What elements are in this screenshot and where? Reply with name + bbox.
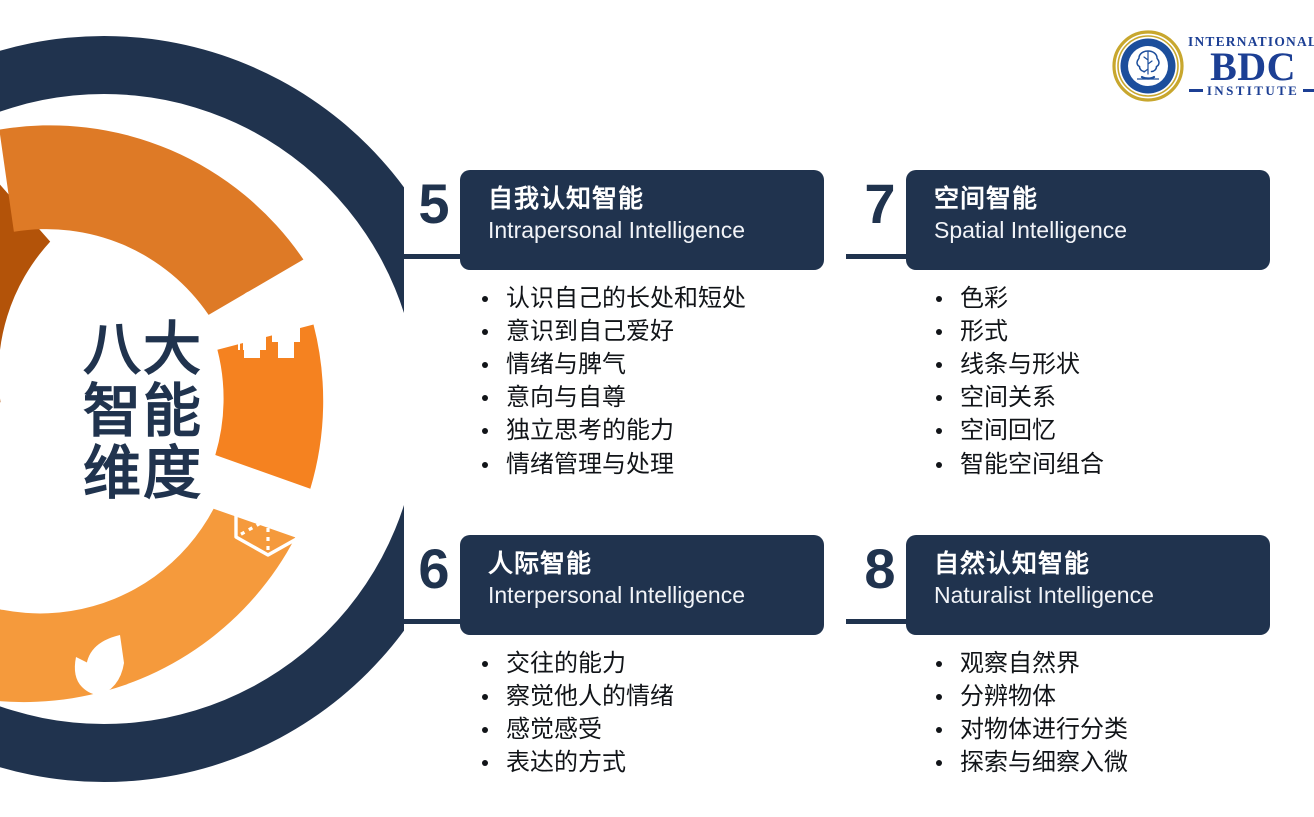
block-8-bullet-list: 观察自然界 分辨物体 对物体进行分类 探索与细察入微 [850,647,1270,779]
wheel-title-line-1: 八大 [48,318,238,380]
list-item: 空间关系 [934,381,1270,414]
list-item: 情绪与脾气 [480,348,824,381]
logo-institute-text: INSTITUTE [1207,84,1299,97]
list-item: 认识自己的长处和短处 [480,282,824,315]
block-5-number: 5 [410,176,458,232]
column-left: 5 自我认知智能 Intrapersonal Intelligence 认识自己… [404,170,824,779]
list-item: 观察自然界 [934,647,1270,680]
wheel-segment-4 [0,509,295,702]
list-item: 意识到自己爱好 [480,315,824,348]
block-7-title-zh: 空间智能 [934,184,1270,214]
block-6-title-en: Interpersonal Intelligence [488,581,824,609]
block-5-rule [400,254,466,259]
list-item: 探索与细察入微 [934,746,1270,779]
block-6-title-zh: 人际智能 [488,549,824,579]
intelligence-block-5[interactable]: 5 自我认知智能 Intrapersonal Intelligence 认识自己… [404,170,824,481]
block-6-header: 6 人际智能 Interpersonal Intelligence [404,535,824,635]
block-7-rule [846,254,912,259]
list-item: 形式 [934,315,1270,348]
block-7-header: 7 空间智能 Spatial Intelligence [850,170,1270,270]
block-5-title-en: Intrapersonal Intelligence [488,216,824,244]
intelligence-block-8[interactable]: 8 自然认知智能 Naturalist Intelligence 观察自然界 分… [850,535,1270,779]
brand-logo: INTERNATIONAL BDC INSTITUTE [1112,26,1288,106]
block-6-number: 6 [410,541,458,597]
list-item: 察觉他人的情绪 [480,680,824,713]
logo-wordmark: INTERNATIONAL BDC INSTITUTE [1188,35,1314,97]
block-8-header: 8 自然认知智能 Naturalist Intelligence [850,535,1270,635]
block-7-number: 7 [856,176,904,232]
block-7-title-en: Spatial Intelligence [934,216,1270,244]
wheel-center-title: 八大 智能 维度 [48,318,238,504]
block-6-bullet-list: 交往的能力 察觉他人的情绪 感觉感受 表达的方式 [404,647,824,779]
list-item: 交往的能力 [480,647,824,680]
block-5-bullet-list: 认识自己的长处和短处 意识到自己爱好 情绪与脾气 意向与自尊 独立思考的能力 情… [404,282,824,481]
block-7-bullet-list: 色彩 形式 线条与形状 空间关系 空间回忆 智能空间组合 [850,282,1270,481]
wheel-title-line-3: 维度 [48,442,238,504]
list-item: 色彩 [934,282,1270,315]
list-item: 独立思考的能力 [480,414,824,447]
brain-tree-seal-icon [1112,30,1184,102]
block-5-title-zh: 自我认知智能 [488,184,824,214]
list-item: 分辨物体 [934,680,1270,713]
intelligence-block-7[interactable]: 7 空间智能 Spatial Intelligence 色彩 形式 线条与形状 … [850,170,1270,481]
list-item: 智能空间组合 [934,448,1270,481]
block-5-header: 5 自我认知智能 Intrapersonal Intelligence [404,170,824,270]
block-6-title-plate: 人际智能 Interpersonal Intelligence [460,535,824,635]
block-8-title-zh: 自然认知智能 [934,549,1270,579]
logo-dash-right [1303,89,1314,92]
logo-line-bdc: BDC [1210,47,1296,87]
list-item: 意向与自尊 [480,381,824,414]
block-5-title-plate: 自我认知智能 Intrapersonal Intelligence [460,170,824,270]
list-item: 线条与形状 [934,348,1270,381]
block-8-number: 8 [856,541,904,597]
block-8-title-en: Naturalist Intelligence [934,581,1270,609]
block-8-rule [846,619,912,624]
column-right: 7 空间智能 Spatial Intelligence 色彩 形式 线条与形状 … [850,170,1270,779]
logo-line-institute: INSTITUTE [1189,84,1314,97]
list-item: 对物体进行分类 [934,713,1270,746]
list-item: 情绪管理与处理 [480,448,824,481]
list-item: 感觉感受 [480,713,824,746]
wheel-title-line-2: 智能 [48,380,238,442]
list-item: 表达的方式 [480,746,824,779]
logo-dash-left [1189,89,1203,92]
block-6-rule [400,619,466,624]
wheel-segment-2 [0,125,303,315]
block-8-title-plate: 自然认知智能 Naturalist Intelligence [906,535,1270,635]
list-item: 空间回忆 [934,414,1270,447]
intelligence-block-6[interactable]: 6 人际智能 Interpersonal Intelligence 交往的能力 … [404,535,824,779]
block-7-title-plate: 空间智能 Spatial Intelligence [906,170,1270,270]
